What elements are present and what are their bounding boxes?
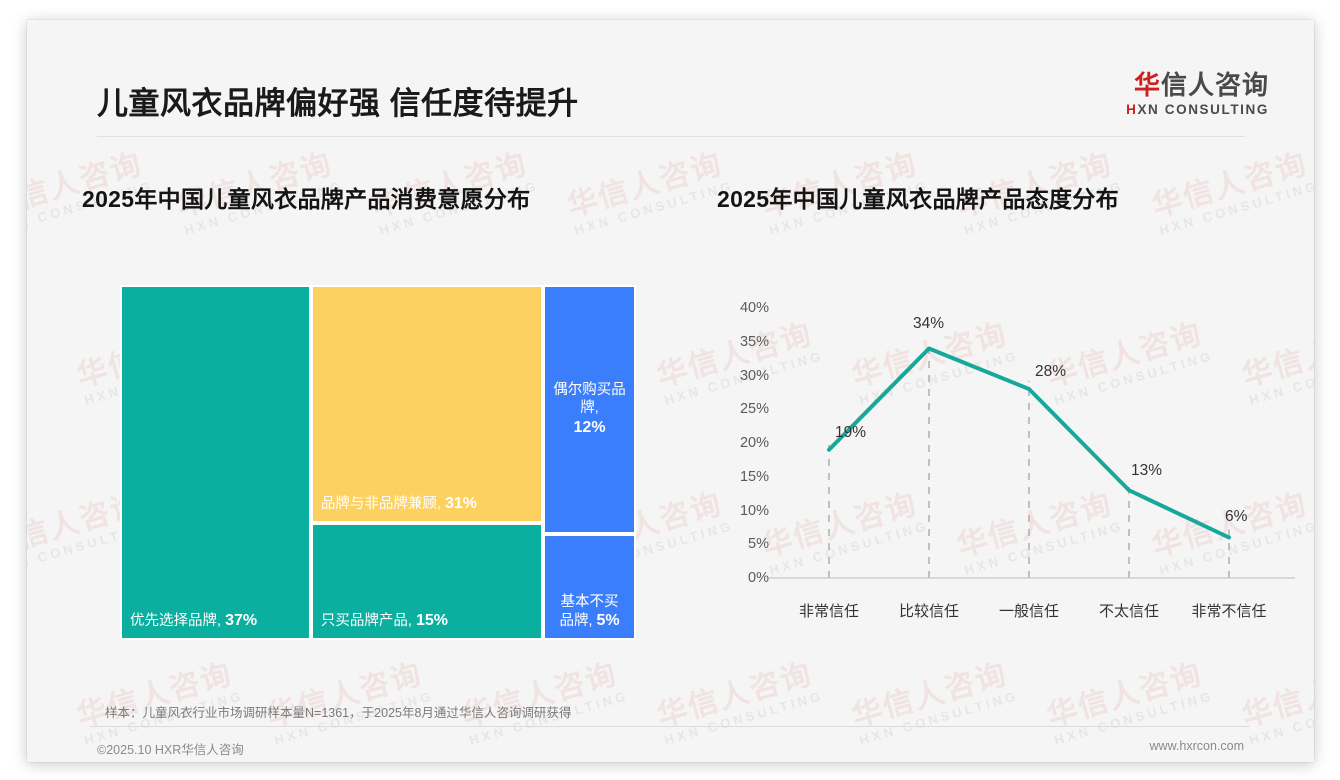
page-title: 儿童风衣品牌偏好强 信任度待提升: [97, 78, 579, 123]
treemap-cell[interactable]: 品牌与非品牌兼顾, 31%: [311, 285, 543, 523]
x-axis-tick-label: 不太信任: [1099, 600, 1159, 621]
slide-header: 儿童风衣品牌偏好强 信任度待提升 华信人咨询 HXN CONSULTING: [27, 20, 1314, 120]
logo-cn-rest: 信人咨询: [1161, 70, 1269, 100]
y-axis-tick-label: 40%: [723, 300, 769, 316]
line-chart: 0%5%10%15%20%25%30%35%40%非常信任比较信任一般信任不太信…: [717, 280, 1297, 640]
treemap-cell-label: 只买品牌产品, 15%: [321, 611, 448, 631]
logo-en-text: HXN CONSULTING: [1126, 102, 1269, 117]
line-series[interactable]: [829, 349, 1229, 538]
footer-divider: [90, 726, 1250, 727]
treemap-cell[interactable]: 只买品牌产品, 15%: [311, 523, 543, 640]
watermark-logo: 华信人咨询HXN CONSULTING: [1239, 658, 1314, 747]
y-axis-tick-label: 0%: [723, 570, 769, 586]
treemap-cell[interactable]: 偶尔购买品牌,12%: [543, 285, 636, 534]
data-point-label: 6%: [1225, 508, 1247, 526]
treemap-cell-label: 品牌与非品牌兼顾, 31%: [321, 494, 477, 514]
logo-en-highlight: H: [1126, 102, 1137, 117]
data-point-label: 19%: [835, 424, 866, 442]
watermark-logo: 华信人咨询HXN CONSULTING: [1044, 658, 1215, 747]
x-axis-tick-label: 比较信任: [899, 600, 959, 621]
footer-website: www.hxrcon.com: [1150, 739, 1244, 753]
footer-copyright: ©2025.10 HXR华信人咨询: [97, 739, 244, 758]
y-axis-tick-label: 20%: [723, 435, 769, 451]
treemap-cell-label: 偶尔购买品牌,12%: [545, 381, 634, 437]
linechart-panel: 2025年中国儿童风衣品牌产品态度分布 0%5%10%15%20%25%30%3…: [717, 180, 1297, 660]
y-axis-tick-label: 35%: [723, 334, 769, 350]
y-axis-tick-label: 10%: [723, 503, 769, 519]
y-axis-tick-label: 30%: [723, 368, 769, 384]
slide: 华信人咨询HXN CONSULTING华信人咨询HXN CONSULTING华信…: [27, 20, 1314, 762]
header-divider: [97, 136, 1245, 137]
line-chart-svg: [717, 280, 1297, 640]
linechart-title: 2025年中国儿童风衣品牌产品态度分布: [717, 180, 1297, 214]
y-axis-tick-label: 25%: [723, 401, 769, 417]
x-axis-tick-label: 一般信任: [999, 600, 1059, 621]
treemap-title: 2025年中国儿童风衣品牌产品消费意愿分布: [82, 180, 682, 214]
slide-canvas: 华信人咨询HXN CONSULTING华信人咨询HXN CONSULTING华信…: [0, 0, 1340, 780]
treemap-panel: 2025年中国儿童风衣品牌产品消费意愿分布 优先选择品牌, 37%品牌与非品牌兼…: [82, 180, 682, 660]
logo-cn-highlight: 华: [1134, 70, 1161, 100]
sample-footnote: 样本：儿童风衣行业市场调研样本量N=1361，于2025年8月通过华信人咨询调研…: [105, 702, 571, 721]
y-axis-tick-label: 5%: [723, 536, 769, 552]
data-point-label: 13%: [1131, 462, 1162, 480]
treemap-cell[interactable]: 基本不买品牌, 5%: [543, 534, 636, 641]
y-axis-tick-label: 15%: [723, 469, 769, 485]
brand-logo: 华信人咨询 HXN CONSULTING: [1126, 72, 1269, 117]
watermark-logo: 华信人咨询HXN CONSULTING: [849, 658, 1020, 747]
treemap-cell-label: 优先选择品牌, 37%: [130, 611, 257, 631]
treemap-chart: 优先选择品牌, 37%品牌与非品牌兼顾, 31%只买品牌产品, 15%偶尔购买品…: [120, 285, 636, 640]
treemap-cell[interactable]: 优先选择品牌, 37%: [120, 285, 311, 640]
data-point-label: 28%: [1035, 363, 1066, 381]
logo-cn-text: 华信人咨询: [1126, 72, 1269, 99]
x-axis-tick-label: 非常不信任: [1191, 600, 1266, 621]
watermark-logo: 华信人咨询HXN CONSULTING: [654, 658, 825, 747]
logo-en-rest: XN CONSULTING: [1137, 102, 1269, 117]
x-axis-tick-label: 非常信任: [799, 600, 859, 621]
treemap-cell-label: 基本不买品牌, 5%: [545, 593, 634, 631]
data-point-label: 34%: [913, 315, 944, 333]
